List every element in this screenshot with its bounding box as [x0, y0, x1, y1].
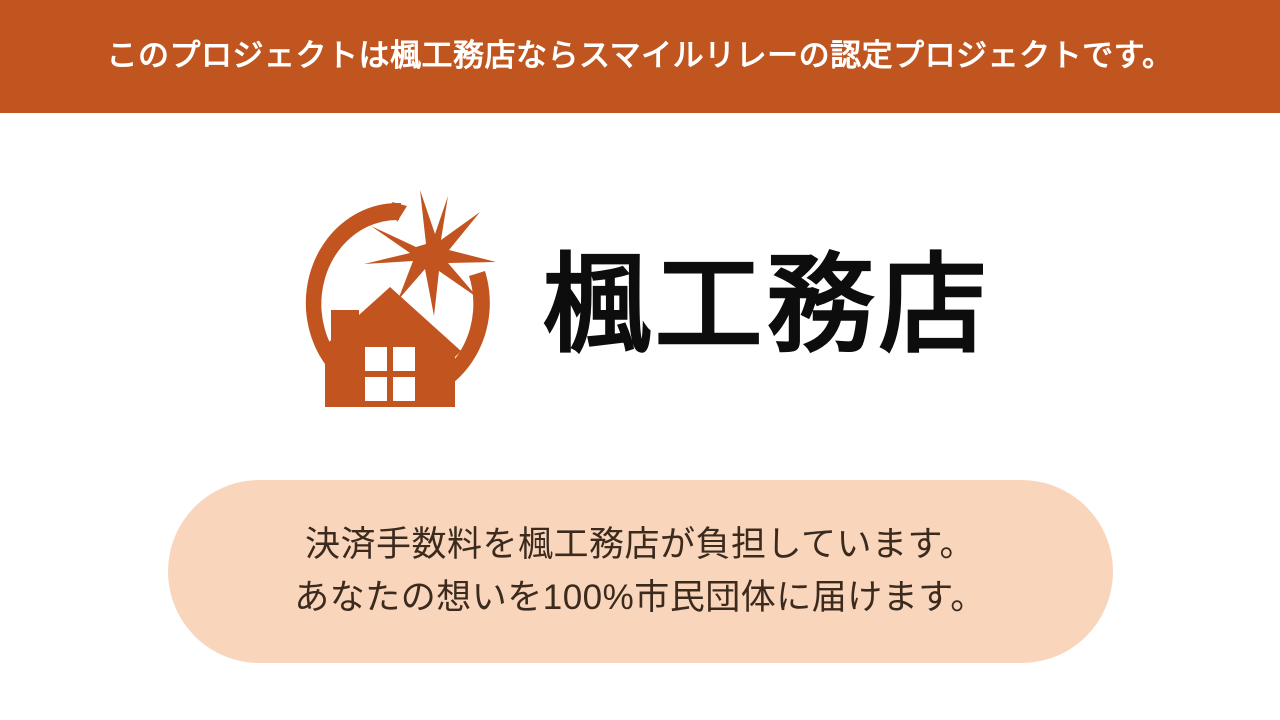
- company-logo: 楓工務店: [289, 175, 990, 425]
- certification-banner-text: このプロジェクトは楓工務店ならスマイルリレーの認定プロジェクトです。: [107, 39, 1174, 73]
- fee-notice-card: 決済手数料を楓工務店が負担しています。 あなたの想いを100%市民団体に届けます…: [168, 480, 1113, 663]
- company-wordmark: 楓工務店: [542, 252, 990, 360]
- fee-notice-line-2: あなたの想いを100%市民団体に届けます。: [294, 578, 986, 618]
- promo-page: このプロジェクトは楓工務店ならスマイルリレーの認定プロジェクトです。: [0, 0, 1280, 720]
- certification-banner: このプロジェクトは楓工務店ならスマイルリレーの認定プロジェクトです。: [0, 0, 1280, 113]
- fee-notice-line-1: 決済手数料を楓工務店が負担しています。: [305, 525, 975, 565]
- maple-house-circle-logo-icon: [289, 175, 514, 425]
